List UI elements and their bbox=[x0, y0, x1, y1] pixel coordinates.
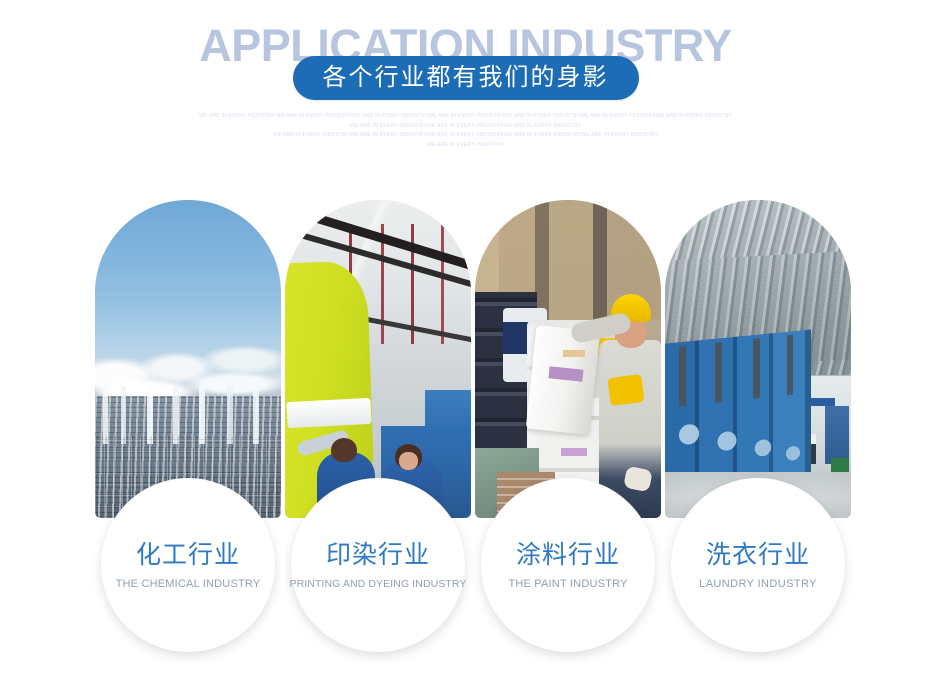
card-caption: 洗衣行业 LAUNDRY INDUSTRY bbox=[671, 478, 845, 652]
subtitle-badge: 各个行业都有我们的身影 bbox=[293, 56, 639, 100]
photo-grain bbox=[285, 200, 471, 518]
card-title-cn: 涂料行业 bbox=[516, 540, 620, 570]
card-title-en: PRINTING AND DYEING INDUSTRY bbox=[289, 577, 466, 591]
photo-grain bbox=[95, 200, 281, 518]
industry-card-laundry[interactable]: 洗衣行业 LAUNDRY INDUSTRY bbox=[665, 200, 851, 518]
card-title-en: THE CHEMICAL INDUSTRY bbox=[116, 577, 261, 591]
chemical-plant-photo bbox=[95, 200, 281, 518]
card-caption: 化工行业 THE CHEMICAL INDUSTRY bbox=[101, 478, 275, 652]
industry-card-chemical[interactable]: 化工行业 THE CHEMICAL INDUSTRY bbox=[95, 200, 281, 518]
card-title-cn: 印染行业 bbox=[326, 540, 430, 570]
card-title-cn: 洗衣行业 bbox=[706, 540, 810, 570]
microcopy-line-4: WE ARE IN EVERY INDUSTRY bbox=[0, 141, 931, 151]
card-caption: 涂料行业 THE PAINT INDUSTRY bbox=[481, 478, 655, 652]
microcopy-line-2: WE ARE IN EVERY INDUSTRYWE ARE IN EVERY … bbox=[0, 122, 931, 132]
microcopy-line-1: WE ARE IN EVERY INDUSTRY WE ARE IN EVERY… bbox=[0, 112, 931, 122]
industry-card-paint[interactable]: 涂料行业 THE PAINT INDUSTRY bbox=[475, 200, 661, 518]
industry-card-printing-dyeing[interactable]: 印染行业 PRINTING AND DYEING INDUSTRY bbox=[285, 200, 471, 518]
industrial-laundry-hall-photo bbox=[665, 200, 851, 518]
card-title-en: THE PAINT INDUSTRY bbox=[508, 577, 627, 591]
page-header: APPLICATION INDUSTRY 各个行业都有我们的身影 WE ARE … bbox=[0, 0, 931, 175]
paint-bucket-warehouse-photo bbox=[475, 200, 661, 518]
microcopy-line-3: WE ARE IN EVERY INDUSTRYWE ARE IN EVERY … bbox=[0, 131, 931, 141]
industry-card-list: 化工行业 THE CHEMICAL INDUSTRY bbox=[95, 200, 845, 610]
card-title-en: LAUNDRY INDUSTRY bbox=[699, 577, 817, 591]
card-caption: 印染行业 PRINTING AND DYEING INDUSTRY bbox=[291, 478, 465, 652]
photo-grain bbox=[665, 200, 851, 518]
microcopy-block: WE ARE IN EVERY INDUSTRY WE ARE IN EVERY… bbox=[0, 112, 931, 150]
textile-dyeing-factory-photo bbox=[285, 200, 471, 518]
application-industry-page: APPLICATION INDUSTRY 各个行业都有我们的身影 WE ARE … bbox=[0, 0, 931, 676]
card-title-cn: 化工行业 bbox=[136, 540, 240, 570]
photo-grain bbox=[475, 200, 661, 518]
